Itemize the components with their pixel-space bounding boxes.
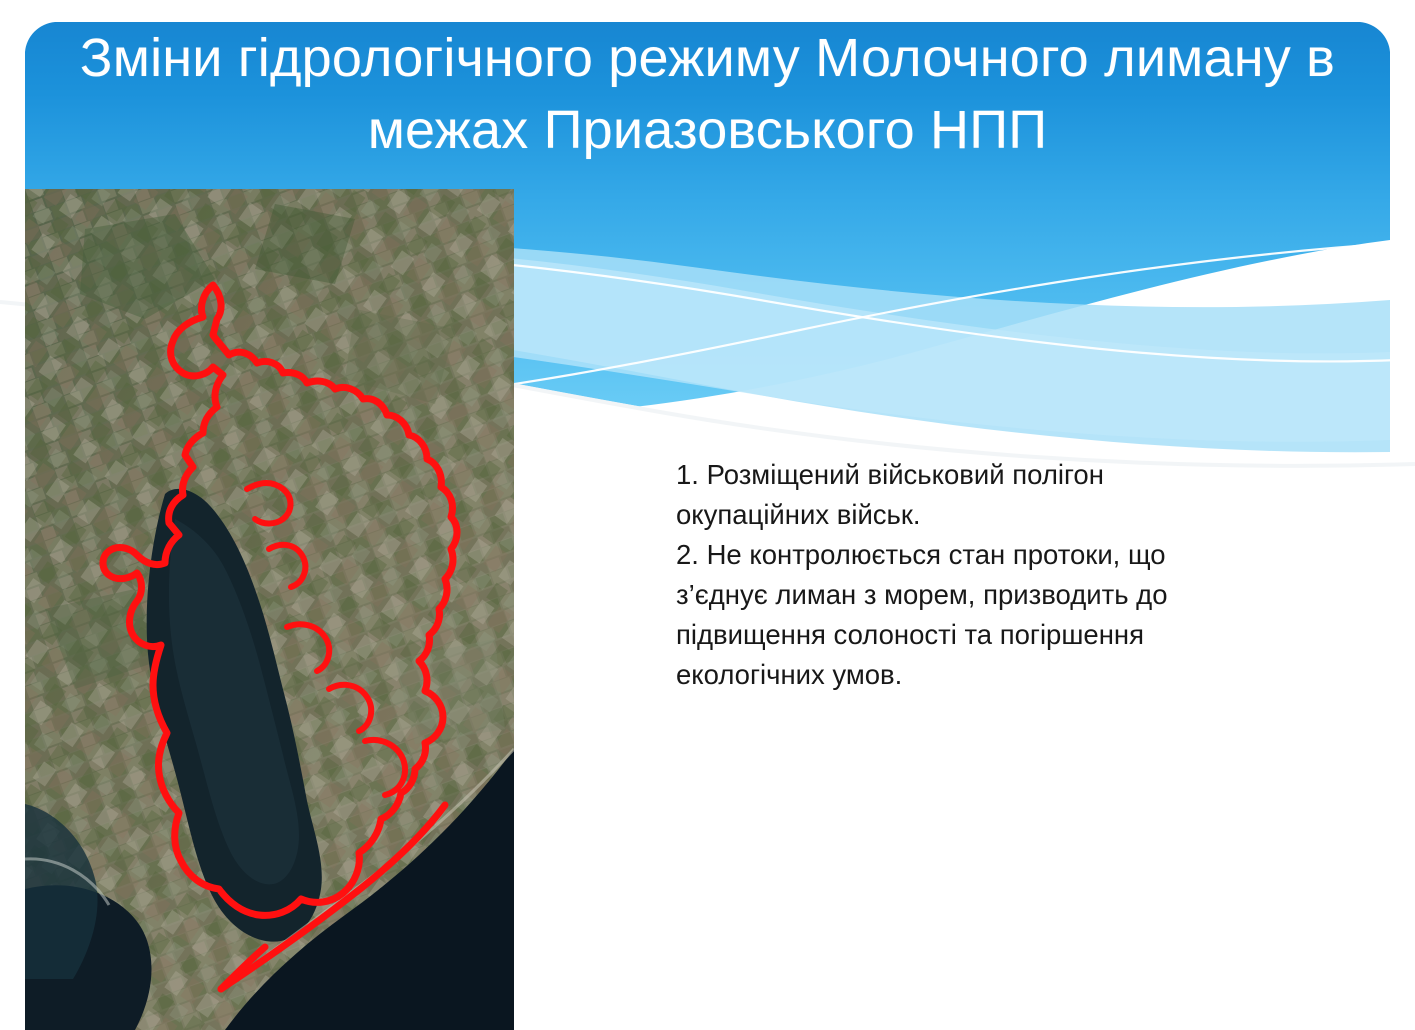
slide-title: Зміни гідрологічного режиму Молочного ли… [25, 22, 1390, 167]
slide: Зміни гідрологічного режиму Молочного ли… [0, 0, 1415, 1030]
body-paragraph: 1. Розміщений військовий полігон окупаці… [676, 455, 1236, 695]
content-text-block: 1. Розміщений військовий полігон окупаці… [676, 455, 1236, 695]
wave-line-lower [360, 243, 1398, 404]
satellite-image-graphic [25, 189, 514, 1030]
page-title: Зміни гідрологічного режиму Молочного ли… [25, 23, 1390, 166]
satellite-image [25, 189, 514, 1030]
